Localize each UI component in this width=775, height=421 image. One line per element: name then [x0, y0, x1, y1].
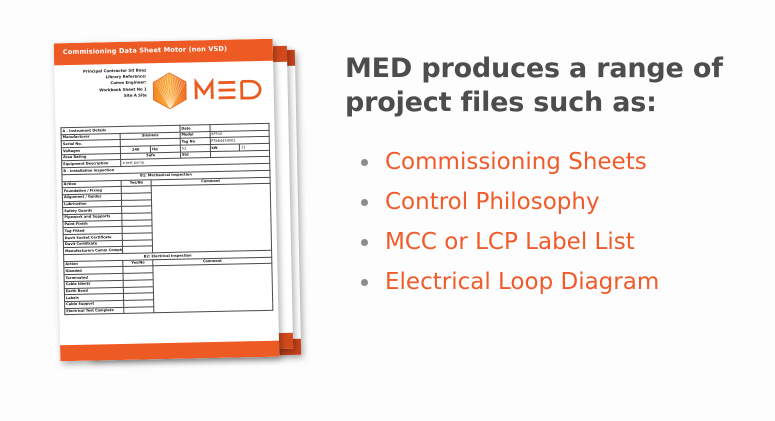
- list-item-label: Commissioning Sheets: [385, 149, 647, 175]
- header-field-list: Principal Contractor Sit Boaz Library Re…: [60, 67, 147, 100]
- datasheet-tables: A - Instrument Details Date Manufacturer…: [60, 123, 273, 316]
- document-title: Commisioning Data Sheet Motor (non VSD): [63, 45, 227, 56]
- list-item: Electrical Loop Diagram: [345, 262, 770, 302]
- bullet-dot-icon: [361, 159, 368, 166]
- checklist-yesno[interactable]: [124, 306, 154, 313]
- project-files-list: Commissioning Sheets Control Philosophy …: [345, 142, 770, 302]
- list-item: Commissioning Sheets: [345, 142, 770, 182]
- instrument-details-table: A - Instrument Details Date Manufacturer…: [60, 123, 273, 316]
- bullet-dot-icon: [361, 239, 368, 246]
- text-panel: MED produces a range of project files su…: [345, 52, 770, 302]
- header-field: Site A Site: [61, 92, 147, 100]
- bullet-dot-icon: [361, 279, 368, 286]
- list-item-label: Control Philosophy: [385, 189, 600, 215]
- med-logo: [149, 67, 268, 113]
- document-page-front[interactable]: Commisioning Data Sheet Motor (non VSD) …: [54, 39, 280, 362]
- med-wordmark: [193, 76, 266, 104]
- checklist-comment[interactable]: [151, 184, 271, 253]
- list-item: Control Philosophy: [345, 182, 770, 222]
- med-hexagon-mark-icon: [149, 70, 190, 111]
- document-header: Principal Contractor Sit Boaz Library Re…: [54, 61, 274, 122]
- document-footer-bar: [60, 341, 279, 362]
- list-item-label: MCC or LCP Label List: [385, 229, 635, 255]
- list-item: MCC or LCP Label List: [345, 222, 770, 262]
- checklist-label: Electrical Test Complete: [65, 307, 125, 315]
- document-stack[interactable]: Commisioning Data Sheet Motor (non VSD) …: [0, 0, 340, 421]
- bullet-dot-icon: [361, 199, 368, 206]
- page-title: MED produces a range of project files su…: [345, 52, 770, 120]
- list-item-label: Electrical Loop Diagram: [385, 269, 659, 295]
- checklist-comment[interactable]: [153, 264, 273, 313]
